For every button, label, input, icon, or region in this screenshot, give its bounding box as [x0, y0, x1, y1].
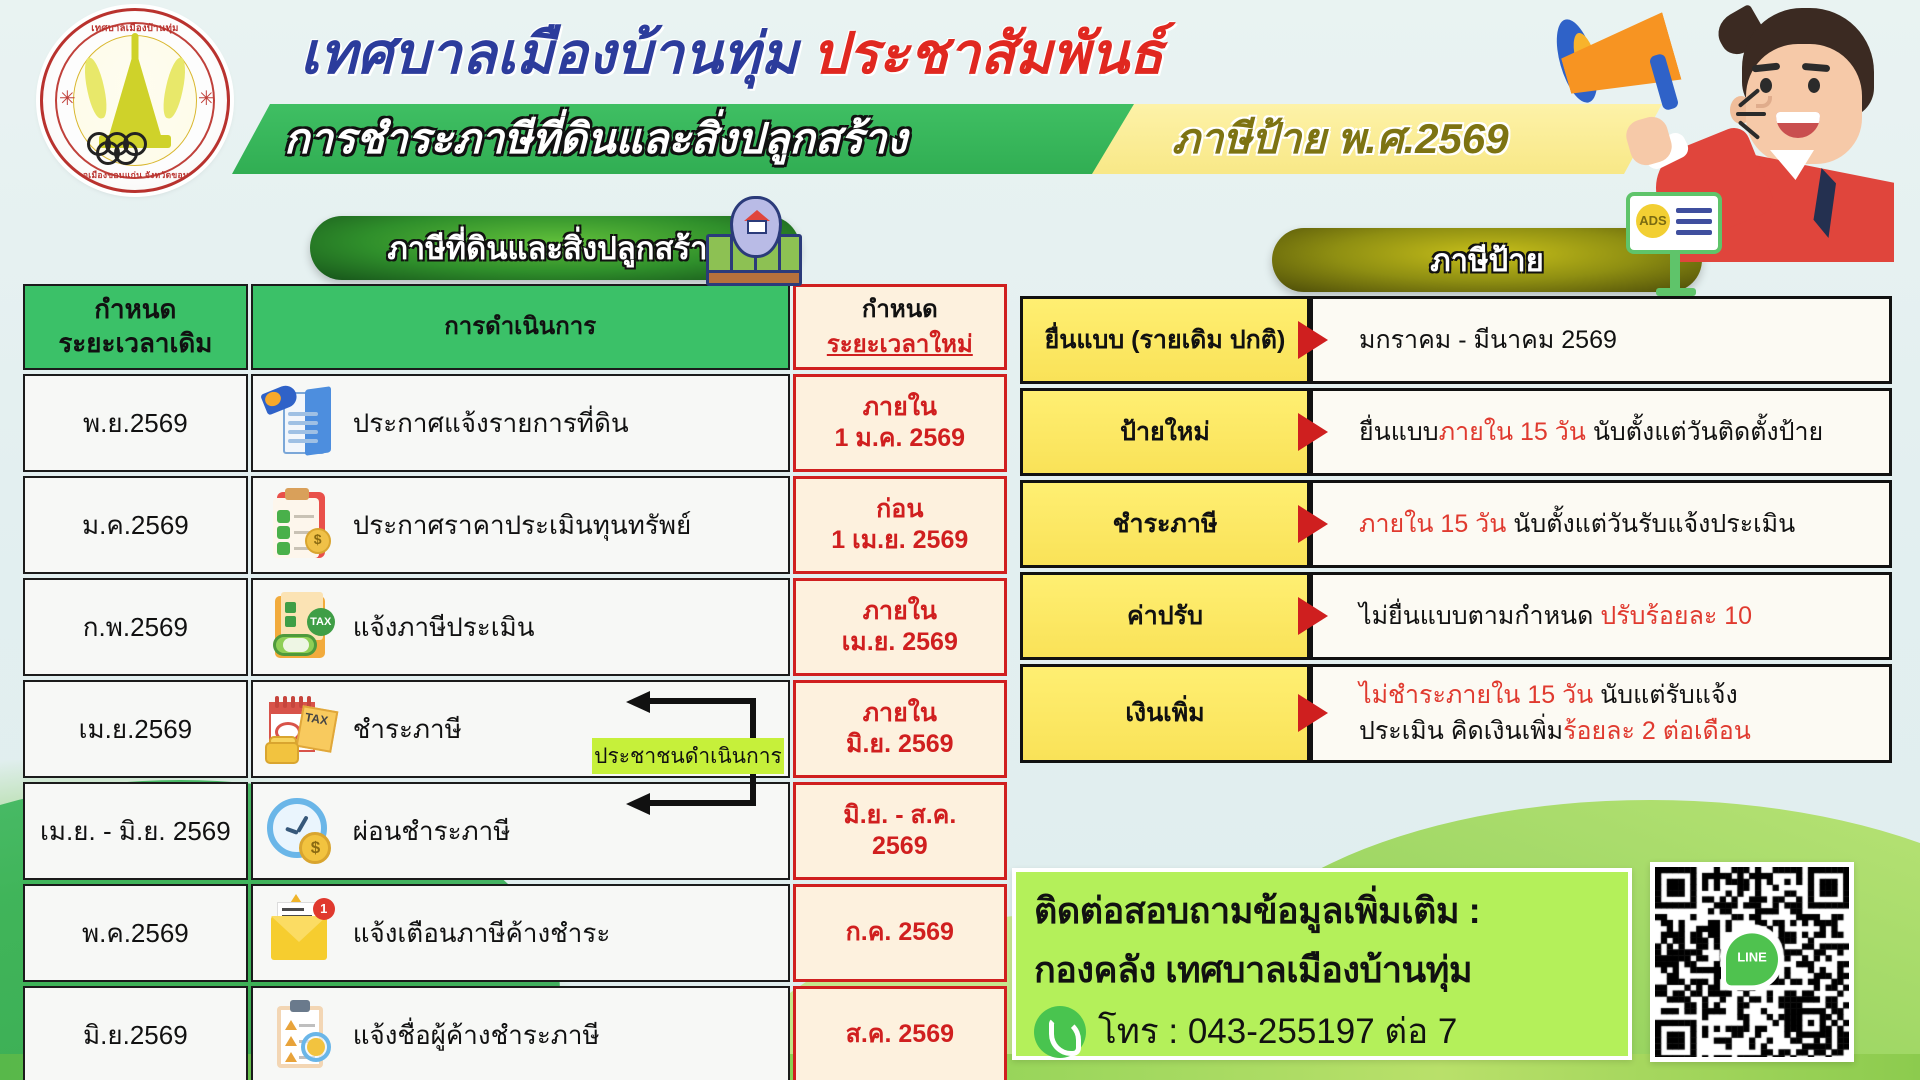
land-tax-header-row: กำหนด ระยะเวลาเดิม การดำเนินการ กำหนด ระ… [23, 284, 1007, 370]
sign-tax-label-cell: ยื่นแบบ (รายเดิม ปกติ) [1020, 296, 1310, 384]
land-tax-section-label: ภาษีที่ดินและสิ่งปลูกสร้าง [387, 223, 722, 273]
value-segment: ปรับร้อยละ 10 [1600, 602, 1752, 630]
sign-tax-value-cell: ไม่ยื่นแบบตามกำหนด ปรับร้อยละ 10 [1310, 572, 1892, 660]
value-segment: ยื่นแบบ [1359, 418, 1439, 446]
value-segment: นับแต่รับแจ้ง [1600, 681, 1738, 709]
action-cell: ผ่อนชำระภาษี [251, 782, 790, 880]
new-deadline-cell: มิ.ย. - ส.ค.2569 [793, 782, 1007, 880]
land-plot-pin-icon [700, 196, 804, 292]
old-deadline-cell: ม.ค.2569 [23, 476, 248, 574]
sign-tax-value-cell: ภายใน 15 วัน นับตั้งแต่วันรับแจ้งประเมิน [1310, 480, 1892, 568]
action-label: แจ้งภาษีประเมิน [353, 607, 535, 648]
new-deadline-line2: เม.ย. 2569 [800, 627, 1000, 658]
line-logo-icon: LINE [1726, 933, 1778, 985]
sign-tax-value-cell: ยื่นแบบภายใน 15 วัน นับตั้งแต่วันติดตั้ง… [1310, 388, 1892, 476]
envelope-notification-icon: 1 [261, 894, 339, 972]
land-tax-col3-header: กำหนด ระยะเวลาใหม่ [793, 284, 1007, 370]
value-segment: นับตั้งแต่วันติดตั้งป้าย [1593, 418, 1823, 446]
citizen-action-label: ประชาชนดำเนินการ [594, 740, 782, 773]
sign-tax-section-label: ภาษีป้าย [1430, 235, 1544, 285]
new-deadline-line1: มิ.ย. - ส.ค. [800, 800, 1000, 831]
banner-green-label: การชำระภาษีที่ดินและสิ่งปลูกสร้าง [284, 106, 907, 172]
table-row: ก.พ.2569TAXแจ้งภาษีประเมินภายในเม.ย. 256… [23, 578, 1007, 676]
table-row: ชำระภาษีภายใน 15 วัน นับตั้งแต่วันรับแจ้… [1020, 480, 1892, 568]
sign-tax-value-cell: ไม่ชำระภายใน 15 วัน นับแต่รับแจ้งประเมิน… [1310, 664, 1892, 763]
action-cell: ประกาศแจ้งรายการที่ดิน [251, 374, 790, 472]
contact-line2: กองคลัง เทศบาลเมืองบ้านทุ่ม [1034, 941, 1612, 998]
table-row: ยื่นแบบ (รายเดิม ปกติ)มกราคม - มีนาคม 25… [1020, 296, 1892, 384]
value-segment: ร้อยละ 2 ต่อเดือน [1563, 717, 1751, 745]
new-deadline-cell: ก.ค. 2569 [793, 884, 1007, 982]
action-label: แจ้งเตือนภาษีค้างชำระ [353, 913, 611, 954]
value-segment: ภายใน 15 วัน [1359, 510, 1513, 538]
new-deadline-line2: มิ.ย. 2569 [800, 729, 1000, 760]
crest-top-text: เทศบาลเมืองบ้านทุ่ม [43, 21, 227, 36]
new-deadline-line2: 1 เม.ย. 2569 [800, 525, 1000, 556]
sign-tax-label-cell: เงินเพิ่ม [1020, 664, 1310, 763]
arrow-right-icon [1298, 321, 1328, 359]
clock-coin-icon [261, 792, 339, 870]
land-tax-table: กำหนด ระยะเวลาเดิม การดำเนินการ กำหนด ระ… [20, 280, 1010, 1080]
ads-billboard-icon: ADS [1618, 192, 1728, 298]
col3-header-line1: กำหนด [796, 294, 1004, 325]
value-segment: นับตั้งแต่วันรับแจ้งประเมิน [1513, 510, 1795, 538]
sign-tax-label: ป้ายใหม่ [1120, 418, 1210, 446]
clipboard-warning-magnifier-icon [261, 996, 339, 1074]
value-segment: ไม่ชำระภายใน 15 วัน [1359, 681, 1600, 709]
table-row: เม.ย.2569TAXชำระภาษีภายในมิ.ย. 2569 [23, 680, 1007, 778]
table-row: เม.ย. - มิ.ย. 2569ผ่อนชำระภาษีมิ.ย. - ส.… [23, 782, 1007, 880]
old-deadline-cell: ก.พ.2569 [23, 578, 248, 676]
crest-bottom-text: อำเภอเมืองขอนแก่น จังหวัดขอนแก่น [43, 168, 227, 182]
calendar-tax-coins-icon: TAX [261, 690, 339, 768]
sign-tax-value-cell: มกราคม - มีนาคม 2569 [1310, 296, 1892, 384]
new-deadline-line1: ก.ค. 2569 [800, 917, 1000, 948]
col1-header-line2: ระยะเวลาเดิม [29, 327, 242, 361]
line-qr-code[interactable]: LINE [1650, 862, 1854, 1062]
sign-tax-label: ชำระภาษี [1113, 510, 1218, 538]
table-row: เงินเพิ่มไม่ชำระภายใน 15 วัน นับแต่รับแจ… [1020, 664, 1892, 763]
arrow-right-icon [1298, 694, 1328, 732]
action-cell: 1แจ้งเตือนภาษีค้างชำระ [251, 884, 790, 982]
sign-tax-label: เงินเพิ่ม [1125, 699, 1204, 727]
land-tax-col1-header: กำหนด ระยะเวลาเดิม [23, 284, 248, 370]
table-row: พ.ค.25691แจ้งเตือนภาษีค้างชำระก.ค. 2569 [23, 884, 1007, 982]
new-deadline-cell: ภายในเม.ย. 2569 [793, 578, 1007, 676]
old-deadline-cell: เม.ย. - มิ.ย. 2569 [23, 782, 248, 880]
old-deadline-cell: พ.ค.2569 [23, 884, 248, 982]
sign-tax-label: ยื่นแบบ (รายเดิม ปกติ) [1045, 326, 1286, 354]
value-segment: ประเมิน คิดเงินเพิ่ม [1359, 717, 1563, 745]
col1-header-line1: กำหนด [29, 293, 242, 327]
land-tax-col2-header: การดำเนินการ [251, 284, 790, 370]
value-segment: ภายใน 15 วัน [1439, 418, 1593, 446]
banner-yellow-label: ภาษีป้าย พ.ศ.2569 [1172, 106, 1509, 172]
action-label: ประกาศราคาประเมินทุนทรัพย์ [353, 505, 691, 546]
announcement-document-icon [261, 384, 339, 462]
value-segment: ไม่ยื่นแบบตามกำหนด [1359, 602, 1600, 630]
old-deadline-cell: พ.ย.2569 [23, 374, 248, 472]
value-segment: มกราคม - มีนาคม 2569 [1359, 326, 1617, 354]
clipboard-checklist-coin-icon [261, 486, 339, 564]
table-row: ม.ค.2569ประกาศราคาประเมินทุนทรัพย์ก่อน1 … [23, 476, 1007, 574]
arrow-right-icon [1298, 597, 1328, 635]
tax-form-magnifier-icon: TAX [261, 588, 339, 666]
table-row: ค่าปรับไม่ยื่นแบบตามกำหนด ปรับร้อยละ 10 [1020, 572, 1892, 660]
table-row: ป้ายใหม่ยื่นแบบภายใน 15 วัน นับตั้งแต่วั… [1020, 388, 1892, 476]
new-deadline-cell: ก่อน1 เม.ย. 2569 [793, 476, 1007, 574]
citizen-action-callout: ประชาชนดำเนินการ [592, 738, 784, 774]
new-deadline-line2: 1 ม.ค. 2569 [800, 423, 1000, 454]
new-deadline-line1: ภายใน [800, 392, 1000, 423]
action-label: ผ่อนชำระภาษี [353, 811, 511, 852]
arrow-right-icon [1298, 413, 1328, 451]
sign-tax-label-cell: ชำระภาษี [1020, 480, 1310, 568]
org-name: เทศบาลเมืองบ้านทุ่ม [300, 9, 798, 99]
table-row: มิ.ย.2569แจ้งชื่อผู้ค้างชำระภาษีส.ค. 256… [23, 986, 1007, 1080]
old-deadline-cell: มิ.ย.2569 [23, 986, 248, 1080]
contact-box: ติดต่อสอบถามข้อมูลเพิ่มเติม : กองคลัง เท… [1012, 868, 1632, 1060]
action-cell: แจ้งชื่อผู้ค้างชำระภาษี [251, 986, 790, 1080]
old-deadline-cell: เม.ย.2569 [23, 680, 248, 778]
sign-tax-label-cell: ป้ายใหม่ [1020, 388, 1310, 476]
new-deadline-line1: ก่อน [800, 494, 1000, 525]
arrow-right-icon [1298, 505, 1328, 543]
new-deadline-line1: ภายใน [800, 698, 1000, 729]
contact-line1: ติดต่อสอบถามข้อมูลเพิ่มเติม : [1034, 882, 1612, 939]
action-label: แจ้งชื่อผู้ค้างชำระภาษี [353, 1015, 600, 1056]
pr-word: ประชาสัมพันธ์ [812, 9, 1164, 99]
page-title: เทศบาลเมืองบ้านทุ่ม ประชาสัมพันธ์ [300, 14, 1164, 94]
new-deadline-line1: ส.ค. 2569 [800, 1019, 1000, 1050]
col3-header-line2: ระยะเวลาใหม่ [796, 329, 1004, 360]
contact-phone: โทร : 043-255197 ต่อ 7 [1098, 1004, 1457, 1059]
table-row: พ.ย.2569ประกาศแจ้งรายการที่ดินภายใน1 ม.ค… [23, 374, 1007, 472]
new-deadline-line2: 2569 [800, 831, 1000, 862]
col2-header-label: การดำเนินการ [261, 311, 780, 342]
action-cell: ประกาศราคาประเมินทุนทรัพย์ [251, 476, 790, 574]
sign-tax-label-cell: ค่าปรับ [1020, 572, 1310, 660]
title-banner: การชำระภาษีที่ดินและสิ่งปลูกสร้าง ภาษีป้… [232, 104, 1662, 174]
new-deadline-cell: ภายใน1 ม.ค. 2569 [793, 374, 1007, 472]
action-label: ประกาศแจ้งรายการที่ดิน [353, 403, 629, 444]
sign-tax-label: ค่าปรับ [1127, 602, 1203, 630]
new-deadline-cell: ภายในมิ.ย. 2569 [793, 680, 1007, 778]
action-cell: TAXแจ้งภาษีประเมิน [251, 578, 790, 676]
new-deadline-cell: ส.ค. 2569 [793, 986, 1007, 1080]
sign-tax-table: ยื่นแบบ (รายเดิม ปกติ)มกราคม - มีนาคม 25… [1020, 292, 1892, 767]
new-deadline-line1: ภายใน [800, 596, 1000, 627]
phone-icon [1034, 1006, 1086, 1058]
action-label: ชำระภาษี [353, 709, 462, 750]
municipality-crest-icon: ✳✳ เทศบาลเมืองบ้านทุ่ม อำเภอเมืองขอนแก่น… [40, 8, 230, 193]
